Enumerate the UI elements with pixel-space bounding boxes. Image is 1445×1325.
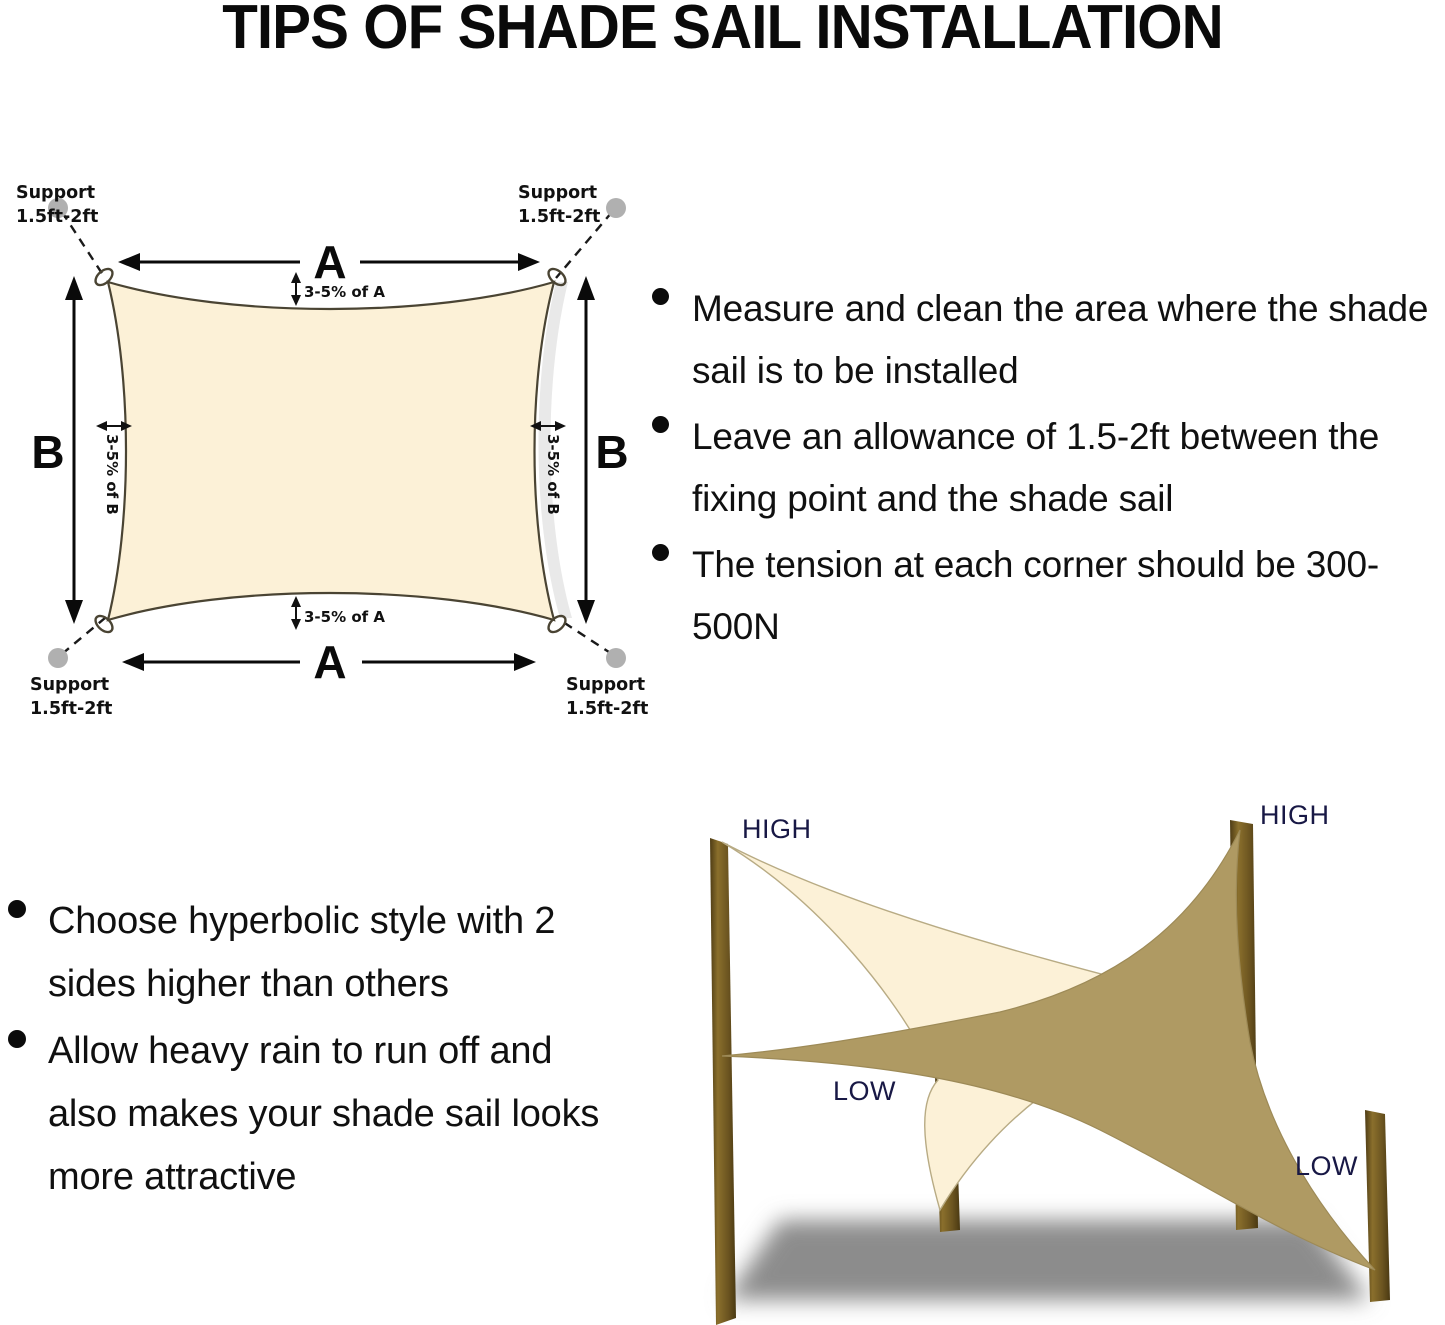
hyperbolic-style-tips-list: Choose hyperbolic style with 2 sides hig… bbox=[0, 890, 620, 1213]
label-low-right: LOW bbox=[1295, 1151, 1358, 1181]
list-item: Leave an allowance of 1.5-2ft between th… bbox=[640, 406, 1445, 530]
curvature-left-label: 3-5% of B bbox=[103, 434, 121, 515]
curvature-bottom: 3-5% of A bbox=[291, 596, 385, 630]
svg-text:Support: Support bbox=[566, 675, 645, 695]
list-item: The tension at each corner should be 300… bbox=[640, 534, 1445, 658]
dimension-a-top-label: A bbox=[313, 236, 346, 288]
list-item-text: Allow heavy rain to run off and also mak… bbox=[48, 1020, 620, 1209]
page-title: TIPS OF SHADE SAIL INSTALLATION bbox=[43, 0, 1401, 60]
list-item: Allow heavy rain to run off and also mak… bbox=[0, 1020, 620, 1209]
list-item: Choose hyperbolic style with 2 sides hig… bbox=[0, 890, 620, 1016]
dimension-b-left-label: B bbox=[31, 426, 64, 478]
post-high-left bbox=[710, 838, 736, 1325]
bullet-dot-icon bbox=[652, 288, 669, 305]
svg-text:Support: Support bbox=[30, 675, 109, 695]
dimension-b-right-label: B bbox=[595, 426, 628, 478]
label-high-left: HIGH bbox=[742, 814, 812, 844]
post-low-right bbox=[1365, 1110, 1390, 1302]
curvature-top-label: 3-5% of A bbox=[304, 283, 385, 301]
list-item: Measure and clean the area where the sha… bbox=[640, 278, 1445, 402]
dimension-a-top: A bbox=[118, 236, 540, 288]
list-item-text: Leave an allowance of 1.5-2ft between th… bbox=[692, 406, 1445, 530]
list-item-text: Measure and clean the area where the sha… bbox=[692, 278, 1445, 402]
curvature-bottom-label: 3-5% of A bbox=[304, 608, 385, 626]
dimension-a-bottom-label: A bbox=[313, 636, 346, 688]
support-label-bottom-left: Support 1.5ft-2ft bbox=[30, 675, 112, 719]
bullet-dot-icon bbox=[8, 900, 26, 918]
svg-text:1.5ft-2ft: 1.5ft-2ft bbox=[566, 699, 648, 719]
installation-tips-list: Measure and clean the area where the sha… bbox=[640, 278, 1445, 662]
list-item-text: The tension at each corner should be 300… bbox=[692, 534, 1445, 658]
svg-text:1.5ft-2ft: 1.5ft-2ft bbox=[30, 699, 112, 719]
ground-shadow bbox=[725, 1220, 1370, 1300]
label-high-right: HIGH bbox=[1260, 800, 1330, 830]
support-label-bottom-right: Support 1.5ft-2ft bbox=[566, 675, 648, 719]
dimension-a-bottom: A bbox=[122, 636, 536, 688]
bullet-dot-icon bbox=[652, 544, 669, 561]
hyperbolic-sail-diagram: HIGH HIGH LOW LOW bbox=[670, 780, 1445, 1325]
label-low-left: LOW bbox=[833, 1076, 896, 1106]
curvature-right-label: 3-5% of B bbox=[544, 434, 562, 515]
rect-sail-diagram: A 3-5% of A A 3-5% of A B 3-5% of B bbox=[0, 150, 660, 880]
dimension-b-left: B bbox=[31, 276, 83, 624]
support-label-top-right: Support 1.5ft-2ft bbox=[518, 183, 600, 227]
bullet-dot-icon bbox=[652, 416, 669, 433]
svg-text:Support: Support bbox=[518, 183, 597, 203]
list-item-text: Choose hyperbolic style with 2 sides hig… bbox=[48, 890, 620, 1016]
sail-fabric-shape bbox=[108, 282, 554, 620]
dimension-b-right: B bbox=[577, 276, 629, 624]
svg-text:Support: Support bbox=[16, 183, 95, 203]
bullet-dot-icon bbox=[8, 1030, 26, 1048]
svg-text:1.5ft-2ft: 1.5ft-2ft bbox=[16, 207, 98, 227]
svg-text:1.5ft-2ft: 1.5ft-2ft bbox=[518, 207, 600, 227]
